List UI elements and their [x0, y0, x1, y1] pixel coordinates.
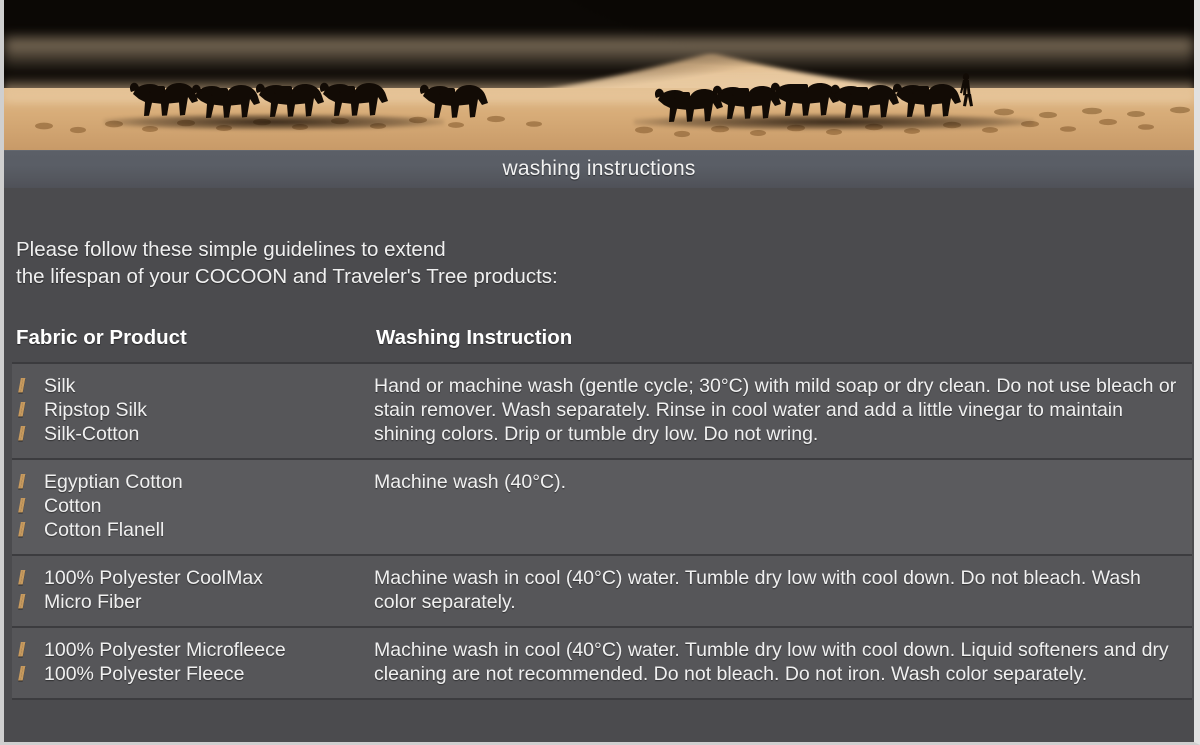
fabric-name: Cotton [44, 495, 101, 517]
list-item: //Cotton [16, 494, 360, 518]
fabric-name: 100% Polyester Microfleece [44, 639, 286, 661]
bullet-slash-icon: // [18, 399, 23, 423]
page-title: washing instructions [502, 157, 695, 181]
content-area: Please follow these simple guidelines to… [4, 188, 1194, 700]
instruction-cell: Machine wash in cool (40°C) water. Tumbl… [370, 555, 1192, 627]
bullet-slash-icon: // [18, 519, 23, 543]
walking-figure-icon [960, 73, 973, 106]
list-item: //Silk-Cotton [16, 422, 360, 446]
list-item: //Egyptian Cotton [16, 470, 360, 494]
washing-instructions-page: washing instructions Please follow these… [0, 0, 1200, 745]
intro-line-2: the lifespan of your COCOON and Traveler… [16, 263, 1194, 290]
page-title-bar: washing instructions [4, 150, 1194, 188]
fabric-name: Egyptian Cotton [44, 471, 183, 493]
list-item: //100% Polyester CoolMax [16, 566, 360, 590]
table-row: //100% Polyester Microfleece //100% Poly… [12, 627, 1192, 699]
bullet-slash-icon: // [18, 663, 23, 687]
list-item: //Silk [16, 374, 360, 398]
banner-image [4, 0, 1194, 150]
bullet-slash-icon: // [18, 375, 23, 399]
instruction-cell: Machine wash (40°C). [370, 459, 1192, 555]
bullet-slash-icon: // [18, 423, 23, 447]
fabric-cell: //100% Polyester CoolMax //Micro Fiber [12, 555, 370, 627]
table-header-row: Fabric or Product Washing Instruction [12, 324, 1192, 363]
camel-caravan-right-icon [644, 64, 1004, 126]
fabric-cell: //100% Polyester Microfleece //100% Poly… [12, 627, 370, 699]
fabric-cell: //Egyptian Cotton //Cotton //Cotton Flan… [12, 459, 370, 555]
washing-instructions-table: Fabric or Product Washing Instruction //… [12, 324, 1192, 700]
fabric-name: Micro Fiber [44, 591, 142, 613]
column-header-instruction: Washing Instruction [370, 324, 1192, 363]
column-header-fabric: Fabric or Product [12, 324, 370, 363]
list-item: //100% Polyester Microfleece [16, 638, 360, 662]
list-item: //Ripstop Silk [16, 398, 360, 422]
bullet-slash-icon: // [18, 591, 23, 615]
fabric-name: 100% Polyester CoolMax [44, 567, 263, 589]
fabric-name: 100% Polyester Fleece [44, 663, 245, 685]
table-row: //100% Polyester CoolMax //Micro Fiber M… [12, 555, 1192, 627]
fabric-name: Silk [44, 375, 75, 397]
bullet-slash-icon: // [18, 495, 23, 519]
fabric-list: //Egyptian Cotton //Cotton //Cotton Flan… [16, 470, 360, 542]
table-row: //Egyptian Cotton //Cotton //Cotton Flan… [12, 459, 1192, 555]
instruction-cell: Hand or machine wash (gentle cycle; 30°C… [370, 363, 1192, 459]
fabric-list: //Silk //Ripstop Silk //Silk-Cotton [16, 374, 360, 446]
fabric-name: Cotton Flanell [44, 519, 164, 541]
instruction-cell: Machine wash in cool (40°C) water. Tumbl… [370, 627, 1192, 699]
list-item: //100% Polyester Fleece [16, 662, 360, 686]
fabric-list: //100% Polyester CoolMax //Micro Fiber [16, 566, 360, 614]
fabric-name: Ripstop Silk [44, 399, 147, 421]
table-row: //Silk //Ripstop Silk //Silk-Cotton Hand… [12, 363, 1192, 459]
intro-paragraph: Please follow these simple guidelines to… [12, 188, 1194, 290]
bullet-slash-icon: // [18, 567, 23, 591]
intro-line-1: Please follow these simple guidelines to… [16, 236, 1194, 263]
bullet-slash-icon: // [18, 471, 23, 495]
fabric-list: //100% Polyester Microfleece //100% Poly… [16, 638, 360, 686]
list-item: //Micro Fiber [16, 590, 360, 614]
list-item: //Cotton Flanell [16, 518, 360, 542]
fabric-cell: //Silk //Ripstop Silk //Silk-Cotton [12, 363, 370, 459]
bullet-slash-icon: // [18, 639, 23, 663]
camel-caravan-left-icon [119, 64, 499, 126]
fabric-name: Silk-Cotton [44, 423, 139, 445]
